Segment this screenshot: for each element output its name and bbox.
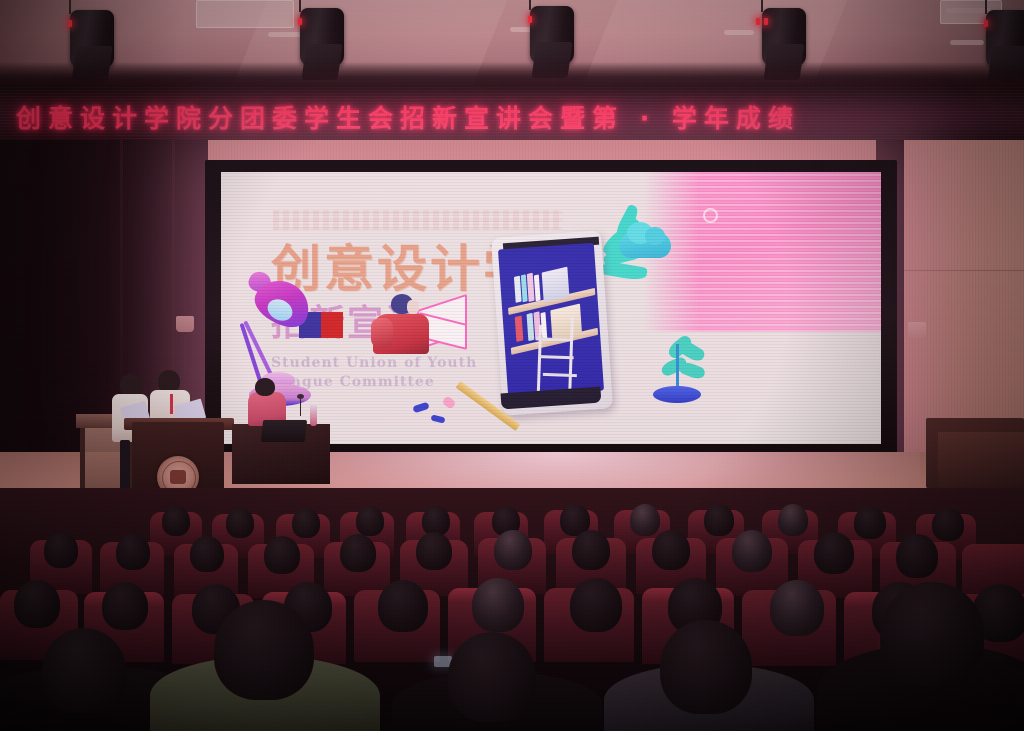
slide-english-line-1: Student Union of Youth bbox=[271, 354, 477, 373]
cloud-icon bbox=[619, 232, 671, 258]
ladder-step bbox=[543, 373, 577, 377]
presentation-slide: 创意设计学院 招新宣讲会 Student Union of Youth Leag… bbox=[221, 172, 881, 444]
student-face bbox=[407, 300, 419, 314]
ladder-step bbox=[540, 355, 574, 359]
audience-head bbox=[264, 536, 300, 574]
ticker-text: 创意设计学院分团委学生会招新宣讲会暨第 · 学年成绩 bbox=[16, 99, 800, 135]
audience-head bbox=[356, 506, 384, 536]
plant-leaf bbox=[678, 360, 707, 382]
presenter-lanyard bbox=[170, 394, 173, 414]
audience-head bbox=[630, 504, 660, 536]
audience-head bbox=[494, 530, 532, 570]
ceiling-light-slot bbox=[724, 30, 754, 35]
light-indicator-led bbox=[528, 16, 532, 23]
ceiling-light-slot bbox=[950, 40, 984, 45]
audience-head bbox=[778, 504, 808, 536]
wall-speaker bbox=[908, 322, 926, 338]
audience-head bbox=[932, 508, 964, 541]
audience-area bbox=[0, 488, 1024, 731]
potted-plant-icon bbox=[653, 386, 701, 403]
palm-leaf-icon bbox=[600, 260, 648, 282]
backpack-icon bbox=[371, 318, 393, 348]
audience-head bbox=[770, 580, 824, 636]
audience-head bbox=[570, 578, 622, 632]
audience-head bbox=[162, 506, 190, 536]
ceiling-shadow-edge bbox=[0, 62, 1024, 88]
light-rod bbox=[985, 0, 987, 14]
audience-head bbox=[340, 534, 376, 572]
light-indicator-led bbox=[764, 18, 768, 25]
audience-head bbox=[896, 534, 938, 578]
led-ticker-banner: 创意设计学院分团委学生会招新宣讲会暨第 · 学年成绩 bbox=[0, 86, 1024, 148]
audience-head-foreground bbox=[880, 582, 984, 686]
audience-head bbox=[472, 578, 524, 632]
led-screen-frame: 创意设计学院 招新宣讲会 Student Union of Youth Leag… bbox=[205, 160, 897, 465]
seal-center bbox=[170, 470, 186, 484]
presenter-leg bbox=[120, 440, 130, 494]
audience-head bbox=[190, 536, 224, 572]
audience-head bbox=[292, 508, 320, 538]
laptop bbox=[261, 420, 307, 442]
presenter-head bbox=[120, 374, 141, 396]
ceiling-vent bbox=[196, 0, 294, 28]
audience-head bbox=[854, 506, 886, 539]
audience-head bbox=[814, 532, 854, 574]
audience-head bbox=[102, 582, 148, 630]
microphone-stand bbox=[300, 398, 301, 416]
audience-head bbox=[14, 580, 60, 628]
light-indicator-led bbox=[68, 20, 72, 27]
book-icon bbox=[534, 274, 541, 301]
audience-head bbox=[652, 530, 690, 570]
audience-head-foreground bbox=[214, 600, 314, 700]
stage-side-table-right-top bbox=[938, 432, 1024, 490]
book-stack-icon bbox=[542, 267, 570, 303]
auditorium-photo: 创意设计学院分团委学生会招新宣讲会暨第 · 学年成绩 创意设计学院 招新宣讲会 … bbox=[0, 0, 1024, 731]
audience-head bbox=[378, 580, 428, 632]
light-indicator-led bbox=[984, 20, 988, 27]
light-rod bbox=[69, 0, 71, 14]
audience-head bbox=[116, 534, 150, 570]
audience-head bbox=[416, 532, 452, 570]
plant-stem bbox=[676, 344, 679, 390]
table-leg bbox=[80, 428, 85, 494]
glitch-artifact-red bbox=[321, 312, 343, 338]
audience-head bbox=[732, 530, 772, 572]
audience-head bbox=[44, 532, 78, 568]
microphone-icon bbox=[297, 394, 304, 399]
light-indicator-led bbox=[756, 18, 760, 25]
eraser-bit bbox=[430, 414, 445, 423]
decorative-circle-icon bbox=[703, 208, 718, 223]
audience-head bbox=[572, 530, 610, 570]
audience-head-foreground bbox=[42, 628, 126, 714]
slide-pink-block bbox=[643, 172, 881, 332]
audience-head bbox=[704, 504, 734, 536]
eraser-bit bbox=[412, 402, 429, 414]
light-indicator-led bbox=[298, 18, 302, 25]
wall-speaker bbox=[176, 316, 194, 332]
tech-operator-head bbox=[255, 378, 275, 396]
slide-english-subtitle: Student Union of Youth League Committee bbox=[271, 354, 477, 392]
audience-head-foreground bbox=[660, 620, 752, 714]
tablet-screen bbox=[498, 243, 604, 397]
audience-head bbox=[226, 508, 254, 538]
book-icon bbox=[515, 315, 524, 342]
water-bottle bbox=[310, 404, 317, 426]
pencil-eraser bbox=[442, 395, 457, 409]
audience-head-foreground bbox=[448, 632, 536, 722]
slide-microcopy bbox=[273, 210, 563, 230]
ceiling-light-slot bbox=[946, 8, 990, 13]
